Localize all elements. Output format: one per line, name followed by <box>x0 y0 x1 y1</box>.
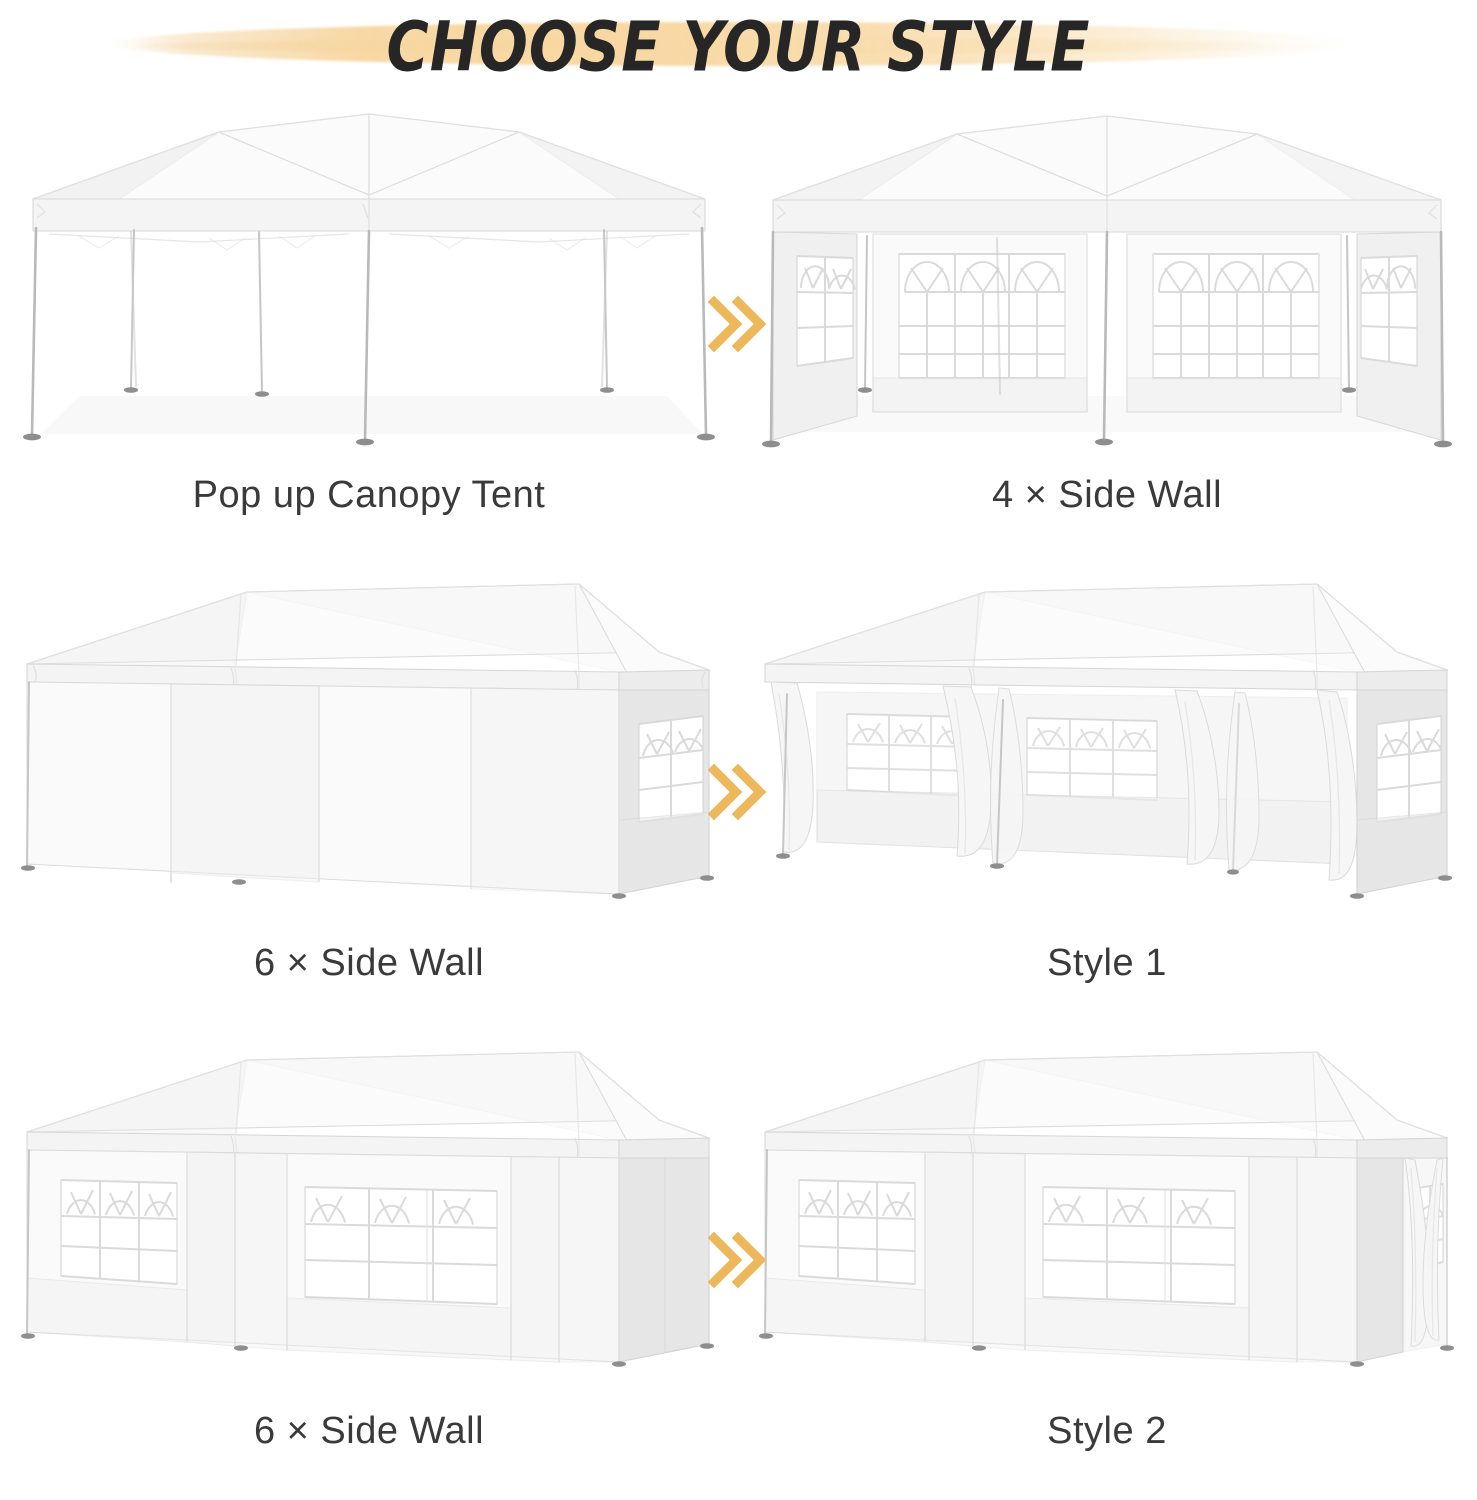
cell-caption: Style 1 <box>1047 942 1167 985</box>
style-cell-six-side-wall-windows[interactable]: 6 × Side Wall <box>0 1032 738 1500</box>
canopy-six-walls-closed-illustration <box>19 564 719 936</box>
double-chevron-right-icon <box>708 1228 770 1292</box>
cell-caption: Style 2 <box>1047 1410 1167 1453</box>
style-cell-style-1[interactable]: Style 1 <box>738 564 1476 1032</box>
double-chevron-right-icon <box>708 760 770 824</box>
style-cell-canopy-tent[interactable]: Pop up Canopy Tent <box>0 96 738 564</box>
cell-caption: 6 × Side Wall <box>254 1410 484 1453</box>
style-row-2: 6 × Side Wall <box>0 564 1477 1032</box>
double-chevron-right-icon <box>708 292 770 356</box>
page-header: CHOOSE YOUR STYLE <box>0 0 1477 92</box>
style-grid: Pop up Canopy Tent <box>0 96 1477 1500</box>
page-title: CHOOSE YOUR STYLE <box>30 0 1448 96</box>
canopy-four-walls-windows-illustration <box>757 96 1457 468</box>
cell-caption: Pop up Canopy Tent <box>193 474 546 517</box>
style-cell-six-side-wall-closed[interactable]: 6 × Side Wall <box>0 564 738 1032</box>
infographic-page: CHOOSE YOUR STYLE <box>0 0 1477 1500</box>
canopy-windows-open-end-illustration <box>757 1032 1457 1404</box>
style-row-3: 6 × Side Wall <box>0 1032 1477 1500</box>
canopy-open-no-walls-illustration <box>19 96 719 468</box>
style-row-1: Pop up Canopy Tent <box>0 96 1477 564</box>
canopy-walls-tied-back-illustration <box>757 564 1457 936</box>
canopy-six-walls-windows-illustration <box>19 1032 719 1404</box>
style-cell-style-2[interactable]: Style 2 <box>738 1032 1476 1500</box>
style-cell-four-side-wall[interactable]: 4 × Side Wall <box>738 96 1476 564</box>
cell-caption: 6 × Side Wall <box>254 942 484 985</box>
cell-caption: 4 × Side Wall <box>992 474 1222 517</box>
